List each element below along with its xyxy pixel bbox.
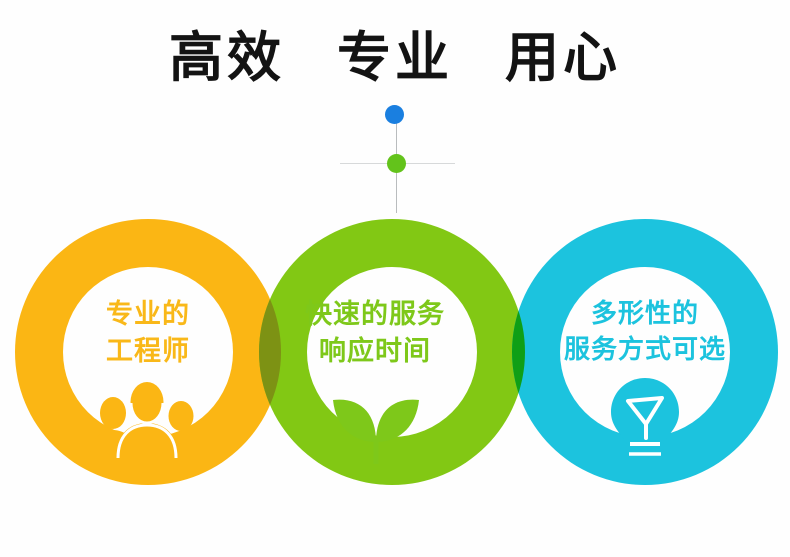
poster-canvas: 高效专业用心 xyxy=(0,0,790,557)
venn-rings-graphic xyxy=(0,0,790,557)
